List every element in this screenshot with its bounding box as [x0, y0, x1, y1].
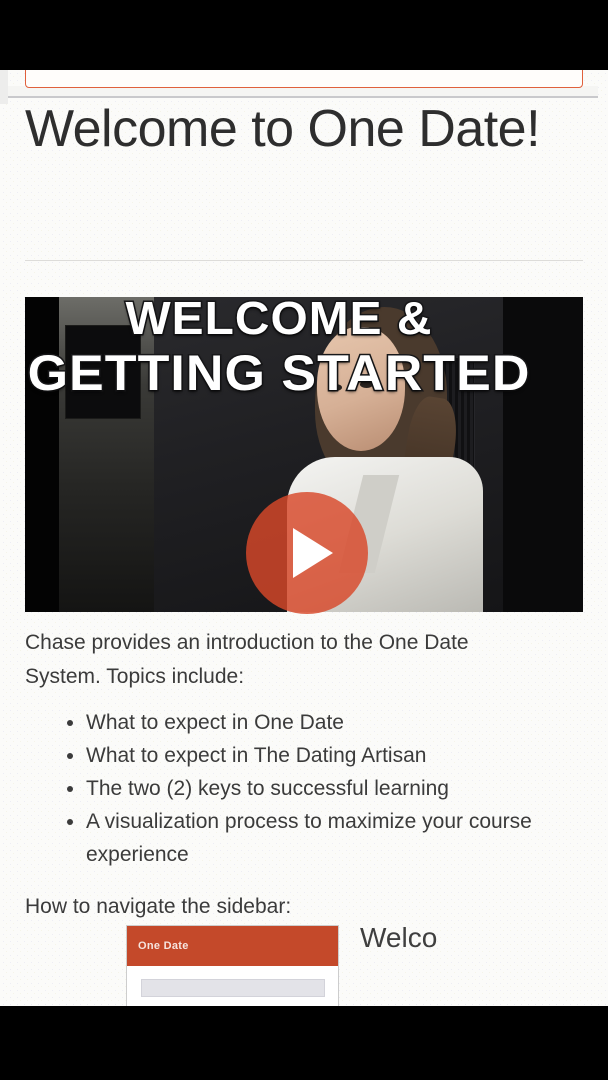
title-divider	[25, 260, 583, 261]
sidebar-screenshot-brand-bar: One Date	[127, 926, 339, 966]
top-letterbox-bar	[0, 0, 608, 70]
sidebar-screenshot-brand-label: One Date	[127, 940, 189, 952]
video-overlay-title-line-1: WELCOME &	[0, 293, 569, 343]
list-item: What to expect in One Date	[86, 706, 590, 739]
navigate-sidebar-heading: How to navigate the sidebar:	[25, 891, 525, 923]
play-triangle-icon	[293, 528, 333, 578]
play-button[interactable]	[246, 492, 368, 614]
page-title: Welcome to One Date!	[25, 98, 545, 160]
list-item: What to expect in The Dating Artisan	[86, 739, 590, 772]
page-content-area: Welcome to One Date! WELCOME &	[0, 70, 608, 1006]
highlighted-card-stub[interactable]	[25, 70, 583, 88]
sidebar-screenshot: One Date	[126, 925, 339, 1006]
list-item: The two (2) keys to successful learning	[86, 772, 590, 805]
bottom-letterbox-bar	[0, 1006, 608, 1080]
topics-list: What to expect in One Date What to expec…	[60, 706, 590, 871]
list-item: A visualization process to maximize your…	[86, 805, 590, 871]
content-column: Welcome to One Date! WELCOME &	[0, 98, 608, 1006]
sidebar-screenshot-caption: Welco	[360, 921, 437, 955]
app-viewport: Welcome to One Date! WELCOME &	[0, 0, 608, 1080]
video-overlay-title-line-2: GETTING STARTED	[0, 345, 569, 401]
intro-paragraph: Chase provides an introduction to the On…	[25, 626, 525, 694]
sidebar-screenshot-row	[141, 979, 325, 997]
